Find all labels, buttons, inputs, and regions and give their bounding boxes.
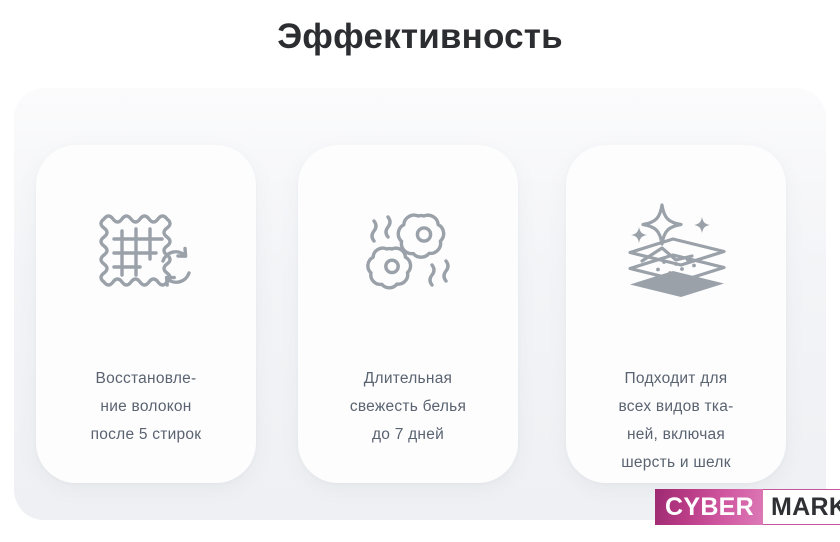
feature-card-line: ние волокон [44, 393, 248, 421]
feature-card-text: Длительная свежесть белья до 7 дней [306, 365, 510, 449]
fabric-fiber-restore-icon [36, 193, 256, 313]
logo-market-text: MARKET [771, 495, 840, 520]
feature-cards-row: Восстановле- ние волокон после 5 стирок [14, 88, 826, 520]
feature-card-line: до 7 дней [306, 421, 510, 449]
fabric-layers-sparkle-icon [566, 193, 786, 313]
feature-card-line: шерсть и шелк [574, 449, 778, 477]
feature-card[interactable]: Восстановле- ние волокон после 5 стирок [36, 145, 256, 483]
logo-cyber-text: CYBER [655, 489, 763, 525]
feature-card-line: Подходит для [574, 365, 778, 393]
flowers-freshness-icon [298, 193, 518, 313]
logo-market-block: MARKET .BY [763, 489, 840, 525]
page-title: Эффективность [0, 14, 840, 60]
feature-card[interactable]: Подходит для всех видов тка- ней, включа… [566, 145, 786, 483]
cybermarket-logo[interactable]: CYBER MARKET .BY [655, 489, 840, 525]
feature-card-line: после 5 стирок [44, 421, 248, 449]
feature-card-text: Подходит для всех видов тка- ней, включа… [574, 365, 778, 477]
feature-card-line: всех видов тка- [574, 393, 778, 421]
feature-card[interactable]: Длительная свежесть белья до 7 дней [298, 145, 518, 483]
feature-card-line: Восстановле- [44, 365, 248, 393]
feature-card-line: ней, включая [574, 421, 778, 449]
page-root: Эффективность [0, 0, 840, 542]
feature-card-text: Восстановле- ние волокон после 5 стирок [44, 365, 248, 449]
feature-card-line: свежесть белья [306, 393, 510, 421]
feature-card-line: Длительная [306, 365, 510, 393]
